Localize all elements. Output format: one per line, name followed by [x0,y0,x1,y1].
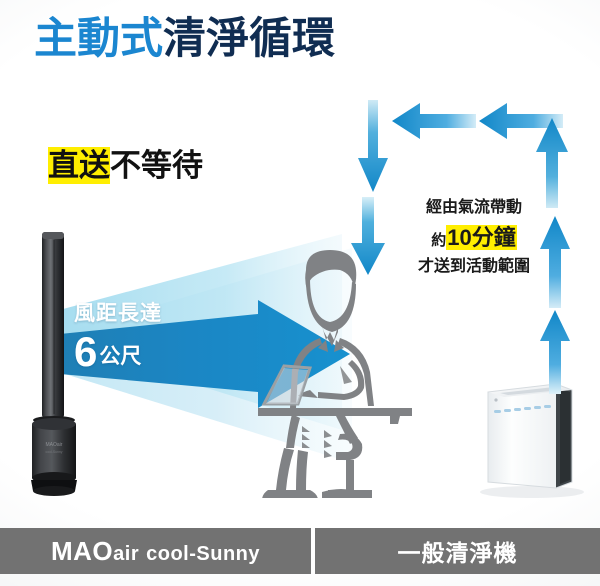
left-arrow-icon [392,103,476,139]
svg-text:MAOair: MAOair [46,442,63,448]
brand-mao: MAO [51,536,113,566]
infographic-canvas: 主動式清淨循環 [0,0,600,586]
tower-fan-icon: MAOair cool-Sunny [18,228,90,498]
brand-model: cool-Sunny [146,543,260,565]
brand-air: air [113,543,139,565]
down-arrow-icon [358,100,388,192]
left-headline: 直送不等待 [48,148,203,184]
right-description-line2: 約10分鐘 [394,221,554,255]
person-at-desk-icon [240,248,430,498]
title-blue-segment: 主動式 [34,15,163,63]
right-description-highlight: 10分鐘 [446,225,516,250]
wind-distance-unit: 公尺 [99,345,141,368]
up-arrow-icon [540,310,570,394]
left-headline-highlight: 直送 [48,147,110,184]
air-purifier-icon [474,366,592,498]
generic-product-label: 一般清淨機 [398,534,518,568]
down-arrow-icon [351,197,385,275]
footer-product-right: 一般清淨機 [315,528,600,574]
comparison-footer: MAOaircool-Sunny 一般清淨機 [0,528,600,574]
right-description-line1: 經由氣流帶動 [394,196,554,221]
page-title: 主動式清淨循環 [34,18,335,61]
right-description-prefix: 約 [431,232,446,249]
right-description: 經由氣流帶動 約10分鐘 才送到活動範圍 [394,196,554,280]
footer-product-left: MAOaircool-Sunny [0,528,311,574]
up-arrow-icon [536,118,568,208]
left-headline-rest: 不等待 [110,148,203,183]
title-navy-segment: 清淨循環 [163,15,335,63]
right-description-line3: 才送到活動範圍 [394,255,554,280]
svg-text:cool-Sunny: cool-Sunny [46,450,63,454]
brand-name: MAOaircool-Sunny [51,536,260,567]
